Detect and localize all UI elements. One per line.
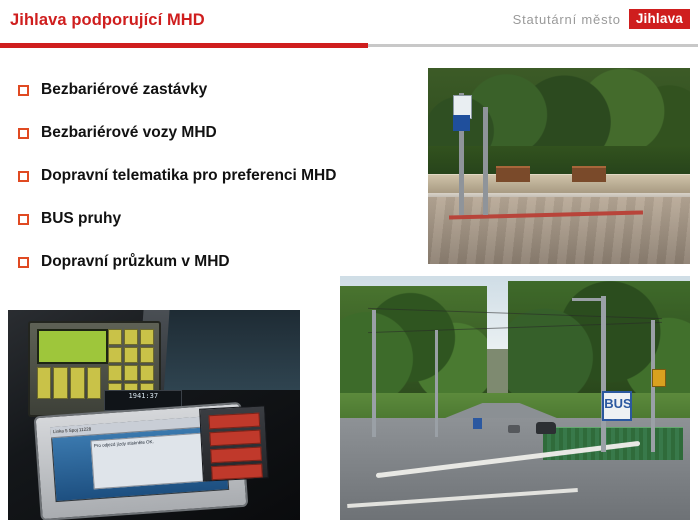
photo-lamp-arm	[572, 298, 606, 301]
square-bullet-icon	[18, 128, 29, 139]
photo-bench	[496, 166, 530, 182]
photo-trees-left-region	[340, 286, 487, 403]
photo-key	[70, 367, 85, 399]
photo-paving-region	[428, 197, 690, 264]
bus-stop-photo	[428, 68, 690, 264]
list-item-label: Bezbariérové vozy MHD	[41, 123, 217, 143]
header-accent-bar	[0, 43, 368, 48]
photo-lamp-post	[372, 310, 376, 437]
photo-bus-lane-sign: BUS	[602, 391, 632, 421]
slide-header: Jihlava podporující MHD Statutární město…	[0, 0, 698, 44]
photo-key	[124, 365, 138, 381]
photo-red-button	[209, 429, 260, 446]
brand-logo: Jihlava	[629, 9, 690, 30]
photo-stop-pole	[483, 107, 488, 215]
square-bullet-icon	[18, 214, 29, 225]
list-item: Bezbariérové vozy MHD	[18, 123, 428, 145]
photo-key	[140, 365, 154, 381]
photo-red-button	[211, 463, 262, 480]
photo-function-keys	[37, 367, 101, 399]
photo-key	[124, 329, 138, 345]
brand-subtitle: Statutární město	[513, 12, 621, 27]
photo-lamp-post	[435, 330, 438, 437]
list-item-label: Dopravní telematika pro preferenci MHD	[41, 166, 336, 186]
slide: Jihlava podporující MHD Statutární město…	[0, 0, 698, 520]
page-title: Jihlava podporující MHD	[10, 11, 205, 30]
list-item: BUS pruhy	[18, 209, 428, 231]
photo-button-panel	[199, 405, 269, 482]
photo-key	[37, 367, 52, 399]
photo-computer-display	[37, 329, 108, 364]
list-item: Dopravní telematika pro preferenci MHD	[18, 166, 428, 188]
photo-key	[140, 329, 154, 345]
photo-vehicle	[536, 422, 556, 434]
list-item: Dopravní průzkum v MHD	[18, 252, 428, 274]
photo-key	[53, 367, 68, 399]
photo-red-button	[208, 412, 259, 429]
photo-key	[108, 347, 122, 363]
photo-red-button	[210, 446, 261, 463]
photo-windscreen-region	[160, 310, 300, 390]
photo-lamp-post	[601, 296, 606, 452]
photo-blue-sign	[473, 418, 482, 429]
bus-console-photo: 1941:37 Linka 5 Spoj 11228 Pro odjezd jí…	[8, 310, 300, 520]
photo-key	[87, 367, 102, 399]
photo-stop-sign	[453, 115, 470, 131]
photo-warning-sign	[652, 369, 666, 387]
photo-keypad-keys	[108, 329, 154, 399]
photo-vehicle	[508, 425, 520, 433]
square-bullet-icon	[18, 85, 29, 96]
photo-key	[108, 365, 122, 381]
photo-bench	[572, 166, 606, 182]
list-item: Bezbariérové zastávky	[18, 80, 428, 102]
brand: Statutární město Jihlava	[513, 6, 690, 32]
list-item-label: Bezbariérové zastávky	[41, 80, 207, 100]
list-item-label: BUS pruhy	[41, 209, 121, 229]
photo-key	[140, 347, 154, 363]
photo-tablet-dialog: Pro odjezd jízdy stiskněte OK.	[91, 432, 209, 488]
photo-key	[108, 329, 122, 345]
bus-sign-glyph: BUS	[604, 393, 630, 415]
square-bullet-icon	[18, 257, 29, 268]
photo-key	[124, 347, 138, 363]
road-bus-lane-photo: BUS	[340, 276, 690, 520]
bullet-list: Bezbariérové zastávky Bezbariérové vozy …	[18, 80, 428, 295]
square-bullet-icon	[18, 171, 29, 182]
list-item-label: Dopravní průzkum v MHD	[41, 252, 230, 272]
